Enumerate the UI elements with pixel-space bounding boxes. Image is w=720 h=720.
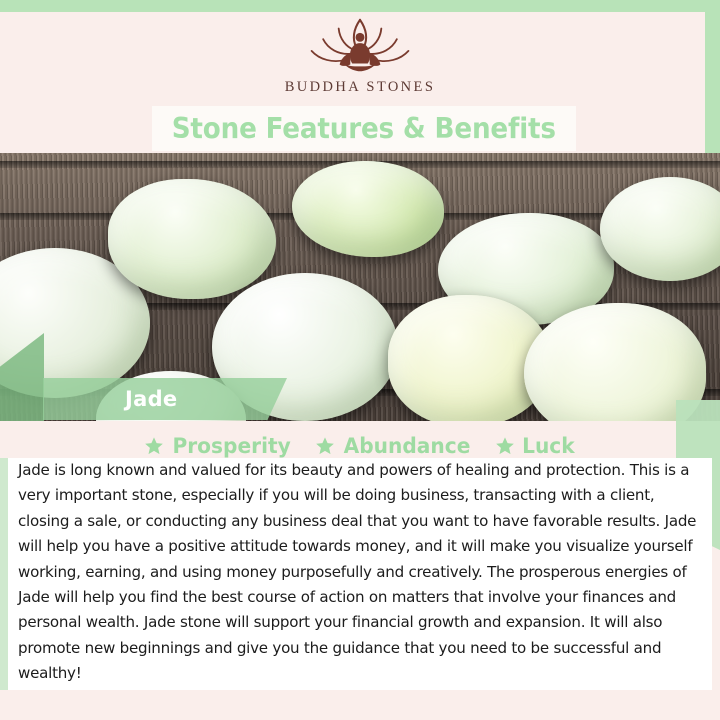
star-icon — [495, 436, 515, 456]
stone-name-band: Jade — [43, 378, 287, 420]
page-title: Stone Features & Benefits — [172, 112, 556, 145]
description-panel: Jade is long known and valued for its be… — [8, 458, 712, 690]
brand-logo: BUDDHA STONES — [0, 16, 720, 106]
star-icon — [315, 436, 335, 456]
lotus-meditation-icon — [301, 16, 419, 78]
jade-stone — [108, 179, 276, 299]
title-banner: Stone Features & Benefits — [152, 106, 576, 151]
benefits-row: Prosperity Abundance Luck — [0, 431, 720, 461]
benefit-item: Abundance — [315, 434, 473, 458]
brand-name: BUDDHA STONES — [285, 79, 436, 96]
benefit-label: Luck — [522, 434, 575, 458]
benefit-label: Abundance — [344, 434, 471, 458]
star-icon — [144, 436, 164, 456]
infographic-card: BUDDHA STONES Stone Features & Benefits … — [0, 0, 720, 720]
benefit-item: Prosperity — [144, 434, 293, 458]
stone-name: Jade — [125, 387, 177, 411]
description-text: Jade is long known and valued for its be… — [18, 458, 702, 687]
benefit-item: Luck — [495, 434, 576, 458]
benefit-label: Prosperity — [172, 434, 290, 458]
